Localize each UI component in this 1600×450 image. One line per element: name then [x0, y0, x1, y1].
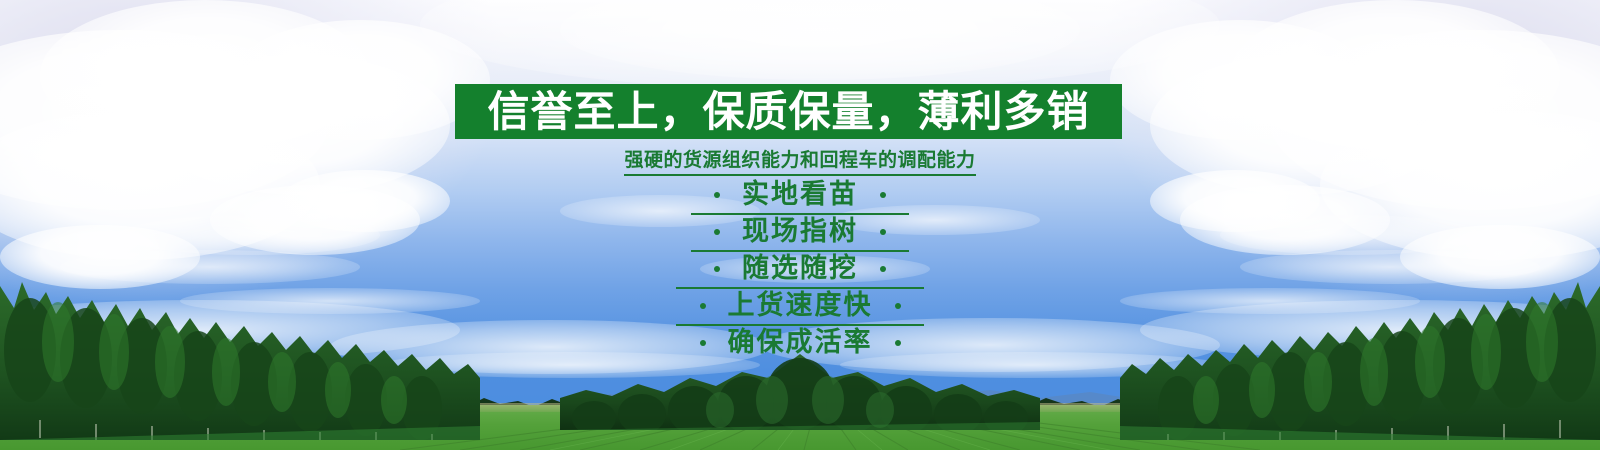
feature-row: 上货速度快 [0, 287, 1600, 324]
feature-label: 实地看苗 [742, 181, 858, 208]
bullet-dot-icon [880, 192, 886, 198]
promotional-banner: 信誉至上，保质保量，薄利多销 强硬的货源组织能力和回程车的调配能力 实地看苗 现… [0, 0, 1600, 450]
banner-text-content: 信誉至上，保质保量，薄利多销 强硬的货源组织能力和回程车的调配能力 实地看苗 现… [0, 0, 1600, 450]
headline-bar: 信誉至上，保质保量，薄利多销 [455, 84, 1122, 139]
feature-list: 实地看苗 现场指树 随选随挖 上货速度快 确保成活率 [0, 176, 1600, 361]
bullet-dot-icon [700, 340, 706, 346]
bullet-dot-icon [895, 340, 901, 346]
feature-label: 现场指树 [742, 218, 858, 245]
bullet-dot-icon [714, 229, 720, 235]
feature-row: 确保成活率 [0, 324, 1600, 361]
feature-row: 现场指树 [0, 213, 1600, 250]
bullet-dot-icon [714, 266, 720, 272]
headline-text: 信誉至上，保质保量，薄利多销 [487, 91, 1089, 133]
bullet-dot-icon [714, 192, 720, 198]
bullet-dot-icon [880, 266, 886, 272]
bullet-dot-icon [895, 303, 901, 309]
subtitle-container: 强硬的货源组织能力和回程车的调配能力 [0, 145, 1600, 176]
subtitle-text: 强硬的货源组织能力和回程车的调配能力 [624, 145, 975, 176]
bullet-dot-icon [880, 229, 886, 235]
feature-label: 上货速度快 [728, 292, 873, 319]
feature-row: 随选随挖 [0, 250, 1600, 287]
feature-row: 实地看苗 [0, 176, 1600, 213]
feature-label: 确保成活率 [728, 329, 873, 356]
feature-label: 随选随挖 [742, 255, 858, 282]
bullet-dot-icon [700, 303, 706, 309]
